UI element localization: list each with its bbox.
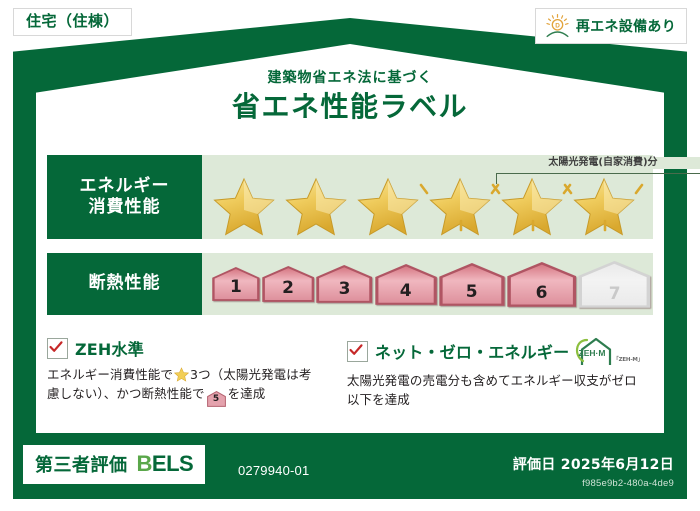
solar-sparkle-icon (520, 217, 546, 243)
renewable-badge-label: 再エネ設備あり (576, 16, 676, 36)
solar-sparkle-icon (622, 181, 648, 207)
insulation-performance-key: 断熱性能 (47, 253, 202, 315)
insulation-level-1: 1 (212, 267, 260, 301)
bels-logo: BELS (137, 451, 194, 477)
solar-bracket-label: 太陽光発電(自家消費)分 (490, 157, 700, 169)
energy-performance-key: エネルギー 消費性能 (47, 155, 202, 239)
bels-logo-rest: ELS (152, 451, 193, 476)
svg-text:D: D (555, 23, 560, 30)
label-title: 省エネ性能ラベル (0, 85, 700, 125)
solar-sparkle-icon (592, 217, 618, 243)
star-icon (174, 367, 189, 382)
net-zero-energy-checkbox[interactable] (347, 341, 368, 362)
star-2 (280, 175, 352, 237)
net-zero-energy-title: ネット・ゼロ・エネルギー (375, 339, 569, 363)
net-zero-energy-description: 太陽光発電の売電分も含めてエネルギー収支がゼロ以下を達成 (347, 371, 643, 410)
insulation-level-2-label: 2 (282, 278, 294, 298)
insulation-level-5-label: 5 (466, 282, 478, 302)
insulation-level-5-icon: 5 (207, 391, 226, 407)
star-4 (424, 175, 496, 237)
solar-sparkle-icon (487, 181, 513, 207)
insulation-level-7: 7 (578, 261, 651, 308)
insulation-level-6-label: 6 (536, 283, 548, 303)
insulation-performance-value: 1 2 3 (202, 253, 653, 315)
energy-performance-value: 太陽光発電(自家消費)分 (202, 155, 653, 239)
zeh-desc-part1: エネルギー消費性能で (47, 367, 173, 382)
energy-star-rating (202, 175, 653, 237)
insulation-key-line1: 断熱性能 (89, 273, 161, 294)
criteria-section: ZEH水準 エネルギー消費性能で 3つ（太陽光発電は考慮しない）、かつ断熱性能で… (47, 336, 653, 428)
dwelling-type-tag: 住宅（住棟） (13, 8, 132, 36)
energy-performance-row: エネルギー 消費性能 太陽光発電(自家消費)分 (47, 155, 653, 239)
zeh-standard-title: ZEH水準 (75, 336, 144, 360)
bels-jp-label: 第三者評価 (35, 451, 128, 477)
solar-sparkle-icon (559, 181, 585, 207)
insulation-level-2: 2 (262, 266, 315, 302)
insulation-level-3: 3 (316, 265, 372, 303)
insulation-level-5-value: 5 (207, 391, 226, 408)
zeh-m-logo-sub: 「ZEH-M」 (613, 355, 643, 363)
insulation-level-4: 4 (375, 264, 437, 305)
renewable-energy-badge: D 再エネ設備あり (535, 8, 687, 44)
dwelling-type-label: 住宅（住棟） (26, 12, 119, 30)
insulation-level-6: 6 (507, 262, 577, 307)
energy-key-line2: 消費性能 (89, 197, 161, 218)
insulation-level-1-label: 1 (230, 277, 242, 297)
solar-bracket (496, 173, 700, 184)
energy-key-line1: エネルギー (80, 176, 170, 197)
star-3 (352, 175, 424, 237)
star-5 (496, 175, 568, 237)
bels-logo-b: B (137, 451, 152, 476)
insulation-level-scale: 1 2 3 (202, 253, 653, 315)
criterion-zeh-standard: ZEH水準 エネルギー消費性能で 3つ（太陽光発電は考慮しない）、かつ断熱性能で… (47, 336, 329, 428)
bels-certificate-number: 0279940-01 (238, 463, 309, 478)
criterion-net-zero-energy: ネット・ゼロ・エネルギー ZEH·M 「ZEH-M」 太陽光発電の売電分も含めて… (329, 336, 653, 428)
zeh-m-house-icon: ZEH·M (572, 336, 612, 366)
label-subtitle: 建築物省エネ法に基づく (0, 67, 700, 87)
criterion-zeh-header: ZEH水準 (47, 336, 319, 360)
insulation-level-3-label: 3 (339, 279, 351, 299)
evaluation-date: 評価日 2025年6月12日 (513, 454, 674, 474)
insulation-level-7-label: 7 (609, 284, 621, 304)
evaluation-hash: f985e9b2-480a-4de9 (582, 478, 674, 489)
insulation-level-4-label: 4 (400, 281, 412, 301)
zeh-m-logo-text: ZEH·M (579, 348, 606, 358)
energy-performance-label: 住宅（住棟） D 再エネ設備あり 建築物省エネ法に基づく 省 (0, 0, 700, 511)
criterion-nze-header: ネット・ゼロ・エネルギー ZEH·M 「ZEH-M」 (347, 336, 643, 366)
star-1 (208, 175, 280, 237)
insulation-level-5: 5 (439, 263, 505, 306)
insulation-performance-row: 断熱性能 1 2 (47, 253, 653, 315)
solar-sparkle-icon (415, 181, 441, 207)
zeh-standard-description: エネルギー消費性能で 3つ（太陽光発電は考慮しない）、かつ断熱性能で 5 を達成 (47, 365, 319, 407)
zeh-standard-checkbox[interactable] (47, 338, 68, 359)
zeh-m-logo: ZEH·M 「ZEH-M」 (572, 336, 643, 366)
star-6 (568, 175, 640, 237)
zeh-desc-part3: を達成 (228, 386, 266, 401)
bels-certification-box: 第三者評価 BELS (23, 445, 205, 484)
solar-sun-icon: D (544, 13, 571, 39)
solar-sparkle-icon (448, 217, 474, 243)
